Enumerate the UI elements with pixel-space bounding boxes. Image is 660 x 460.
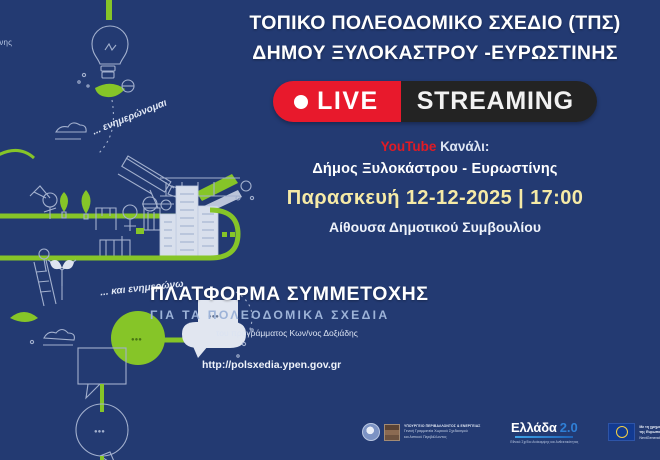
ministry-logo-text: ΥΠΟΥΡΓΕΙΟ ΠΕΡΙΒΑΛΛΟΝΤΟΣ & ΕΝΕΡΓΕΙΑΣ Γενι… (404, 425, 480, 440)
svg-text:●●●: ●●● (94, 429, 105, 435)
poster-content: ΤΟΠΙΚΟ ΠΟΛΕΟΔΟΜΙΚΟ ΣΧΕΔΙΟ (ΤΠΣ) ΔΗΜΟΥ ΞΥ… (210, 0, 660, 460)
greece-logo-version: 2.0 (560, 421, 578, 434)
live-badge-left: LIVE (273, 81, 401, 122)
platform-branding: ΠΛΑΤΦΟΡΜΑ ΣΥΜΜΕΤΟΧΗΣ ΓΙΑ ΤΑ ΠΟΛΕΟΔΟΜΙΚΑ … (150, 283, 480, 373)
live-badge-container: LIVE STREAMING (210, 81, 660, 122)
page-title-line2: ΔΗΜΟΥ ΞΥΛΟΚΑΣΤΡΟΥ -ΕΥΡΩΣΤΙΝΗΣ (210, 40, 660, 68)
ministry-logo: ΥΠΟΥΡΓΕΙΟ ΠΕΡΙΒΑΛΛΟΝΤΟΣ & ΕΝΕΡΓΕΙΑΣ Γενι… (362, 423, 480, 441)
platform-url-link[interactable]: http://polsxedia.ypen.gov.gr (202, 359, 341, 371)
platform-subtitle: ΓΙΑ ΤΑ ΠΟΛΕΟΔΟΜΙΚΑ ΣΧΕΔΙΑ (150, 308, 480, 322)
svg-text:●●●: ●●● (131, 337, 142, 343)
channel-suffix-label: Κανάλι: (436, 139, 489, 154)
live-dot-icon (294, 95, 308, 109)
greece-logo-word: Ελλάδα (511, 421, 557, 434)
live-badge-right: STREAMING (401, 81, 597, 122)
greece-logo-row: Ελλάδα 2.0 (511, 421, 578, 434)
greece-logo-caption: Εθνικό Σχέδιο Ανάκαμψης και Ανθεκτικότητ… (510, 440, 578, 444)
platform-program-name: του προγράμματος Κων/νος Δοξιάδης (216, 328, 480, 338)
event-datetime: Παρασκευή 12-12-2025 | 17:00 (210, 187, 660, 210)
page-title-line1: ΤΟΠΙΚΟ ΠΟΛΕΟΔΟΜΙΚΟ ΣΧΕΔΙΟ (ΤΠΣ) (210, 10, 660, 38)
greek-flag-icon (384, 424, 400, 441)
streaming-badge-label: STREAMING (417, 89, 574, 114)
footer-logo-strip: ΥΠΟΥΡΓΕΙΟ ΠΕΡΙΒΑΛΛΟΝΤΟΣ & ΕΝΕΡΓΕΙΑΣ Γενι… (362, 421, 660, 444)
eu-text-line2: της Ευρωπαϊκής Ένωσης (639, 430, 660, 435)
live-streaming-badge: LIVE STREAMING (273, 81, 597, 122)
greece-logo-underline (515, 436, 573, 438)
ministry-emblem-icon (362, 423, 380, 441)
greece-2-0-logo: Ελλάδα 2.0 Εθνικό Σχέδιο Ανάκαμψης και Α… (510, 421, 578, 444)
eu-text-line1: Με τη χρηματοδότηση (639, 424, 660, 429)
european-union-logo: Με τη χρηματοδότηση της Ευρωπαϊκής Ένωση… (608, 423, 660, 441)
eu-flag-icon (608, 423, 635, 441)
event-details: YouTube Κανάλι: Δήμος Ξυλοκάστρου - Ευρω… (210, 139, 660, 235)
eu-text-line3: NextGenerationEU (639, 436, 660, 441)
channel-name: Δήμος Ξυλοκάστρου - Ευρωστίνης (210, 161, 660, 177)
live-streaming-poster: ●●● ●●● ●●● (0, 0, 660, 460)
eu-logo-text: Με τη χρηματοδότηση της Ευρωπαϊκής Ένωση… (639, 425, 660, 440)
ministry-text-line3: και Αστικού Περιβάλλοντος (404, 436, 480, 440)
youtube-channel-line: YouTube Κανάλι: (210, 139, 660, 154)
illustration-corner-text-2: ...υ - Ευρωστίνης (0, 38, 12, 47)
youtube-label: YouTube (381, 139, 437, 154)
platform-title: ΠΛΑΤΦΟΡΜΑ ΣΥΜΜΕΤΟΧΗΣ (150, 283, 480, 306)
eu-stars-icon (616, 426, 628, 438)
event-venue: Αίθουσα Δημοτικού Συμβουλίου (210, 219, 660, 235)
live-badge-label: LIVE (317, 89, 379, 114)
